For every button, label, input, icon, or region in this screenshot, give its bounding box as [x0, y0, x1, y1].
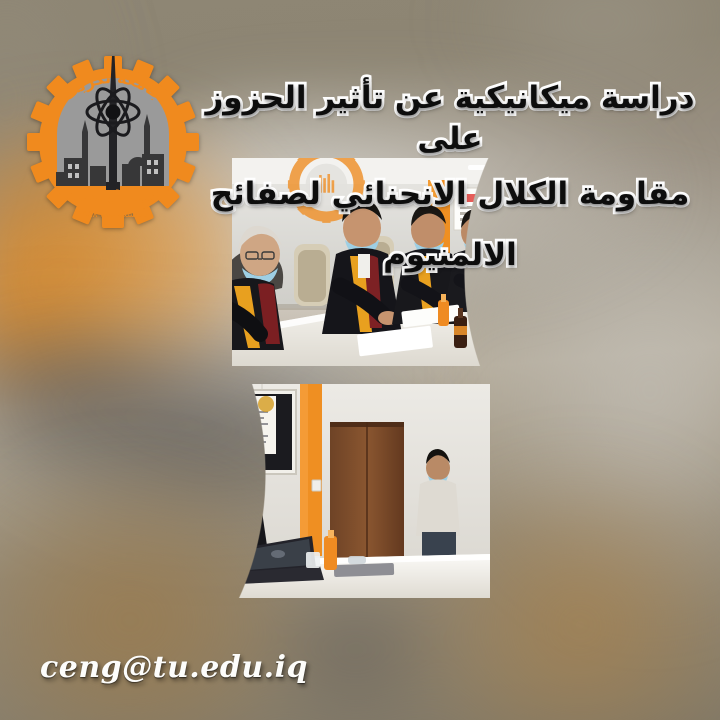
- logo-atom-nucleus: [106, 105, 121, 120]
- poster-title: دراسة ميكانيكية عن تأثير الحزوز على مقاو…: [196, 78, 704, 276]
- contact-email: ceng@tu.edu.iq: [40, 650, 308, 685]
- photo-presenter: [66, 384, 490, 598]
- university-logo-artwork: جامعة تكريت جامعة تكريت كلية الهندسة تأس…: [22, 54, 204, 236]
- title-line-2: مقاومة الكلال الانحنائي لصفائح: [196, 174, 704, 215]
- poster-canvas: جامعة تكريت جامعة تكريت كلية الهندسة تأس…: [0, 0, 720, 720]
- university-logo: جامعة تكريت جامعة تكريت كلية الهندسة تأس…: [22, 54, 204, 236]
- logo-college-text: كلية الهندسة: [66, 187, 161, 205]
- title-line-1: دراسة ميكانيكية عن تأثير الحزوز على: [196, 78, 704, 160]
- photo-presenter-artwork: [66, 384, 490, 598]
- title-line-3: الالمنيوم: [196, 235, 704, 276]
